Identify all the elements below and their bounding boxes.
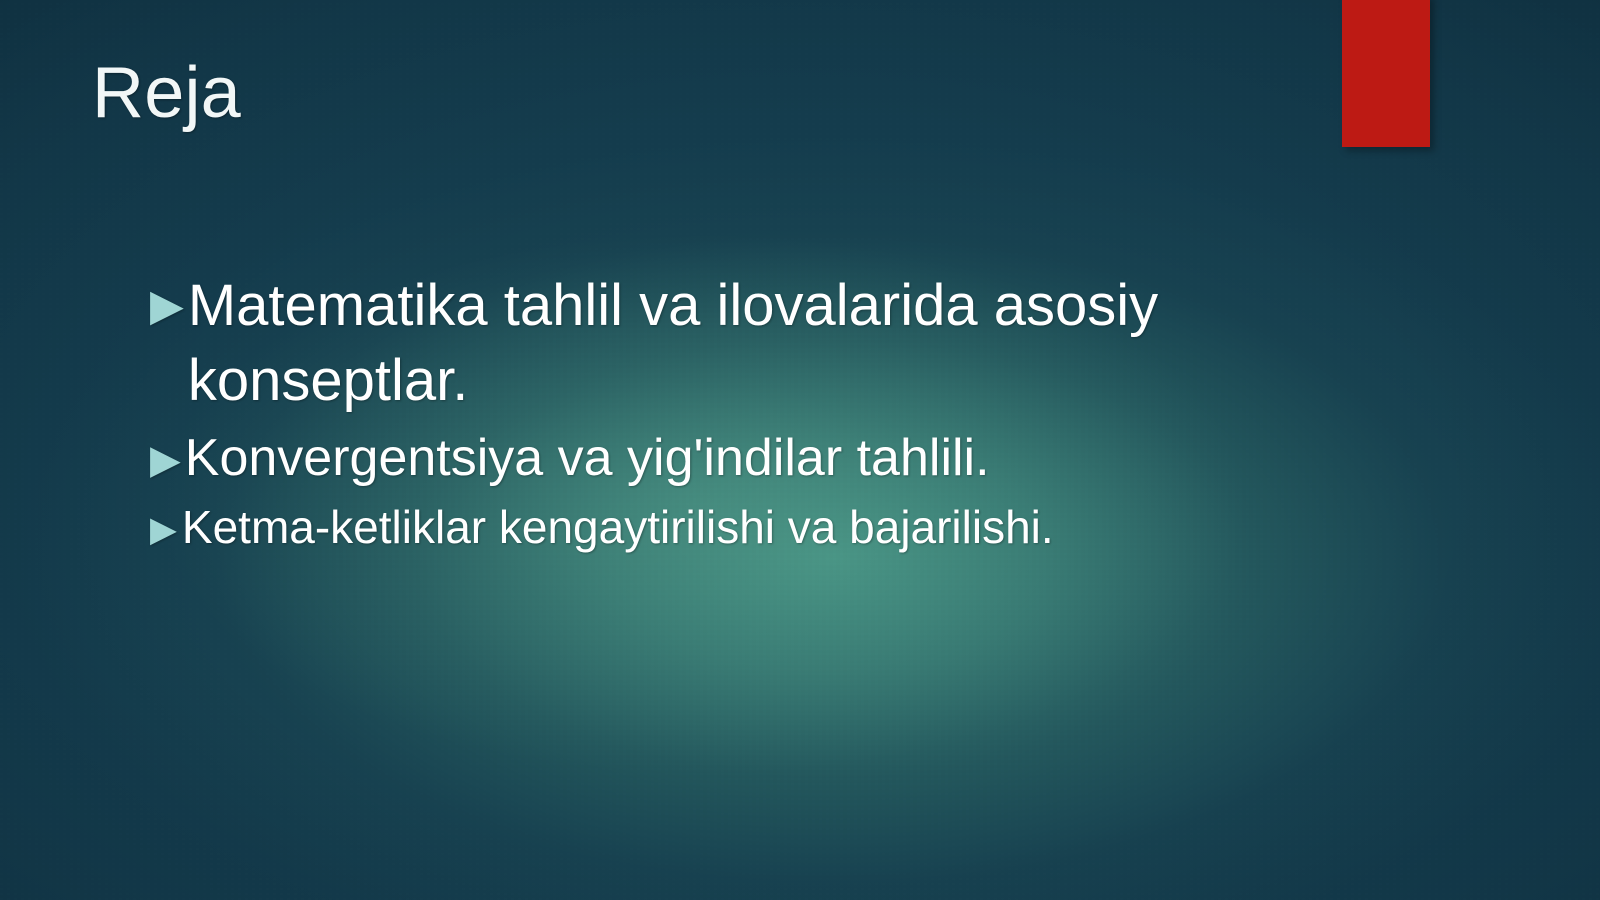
bullet-triangle-icon: ▶ [150, 268, 184, 328]
list-item: ▶ Konvergentsiya va yig'indilar tahlili. [150, 425, 1450, 493]
list-item-label: Konvergentsiya va yig'indilar tahlili. [185, 425, 1450, 493]
bullet-triangle-icon: ▶ [150, 498, 177, 547]
list-item-label: Matematika tahlil va ilovalarida asosiy … [188, 268, 1450, 419]
list-item: ▶ Matematika tahlil va ilovalarida asosi… [150, 268, 1450, 419]
presentation-slide: Reja ▶ Matematika tahlil va ilovalarida … [0, 0, 1600, 900]
bullet-list: ▶ Matematika tahlil va ilovalarida asosi… [150, 268, 1450, 558]
list-item: ▶ Ketma-ketliklar kengaytirilishi va baj… [150, 498, 1450, 558]
red-accent-rectangle [1342, 0, 1430, 147]
bullet-triangle-icon: ▶ [150, 425, 181, 480]
list-item-label: Ketma-ketliklar kengaytirilishi va bajar… [182, 498, 1450, 558]
slide-title: Reja [92, 56, 1272, 132]
